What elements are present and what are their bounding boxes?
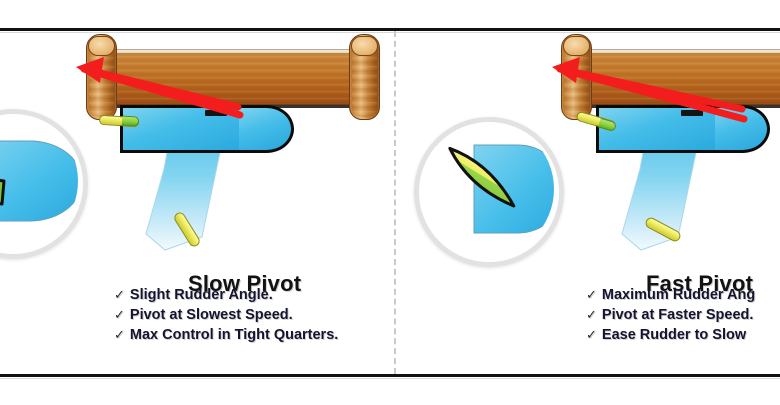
bullet-item: ✓ Max Control in Tight Quarters. [114, 325, 338, 345]
bullet-item: ✓ Slight Rudder Angle. [114, 285, 338, 305]
diagram-canvas: Slow Pivot ✓ Slight Rudder Angle. ✓ Pivo… [0, 0, 780, 405]
inset-content-fast [414, 117, 564, 267]
check-icon: ✓ [114, 285, 125, 305]
bullet-list-slow: ✓ Slight Rudder Angle. ✓ Pivot at Slowes… [114, 285, 338, 345]
check-icon: ✓ [586, 285, 597, 305]
arrow-head [552, 57, 580, 83]
check-icon: ✓ [114, 325, 125, 345]
bullet-text: Max Control in Tight Quarters. [130, 325, 338, 345]
pivot-angle-arrow-fast [546, 49, 776, 129]
frame-bottom-rule [0, 374, 780, 377]
pivot-angle-arrow-slow [70, 49, 270, 129]
inset-content-slow [0, 109, 88, 259]
bullet-text: Slight Rudder Angle. [130, 285, 273, 305]
check-icon: ✓ [586, 325, 597, 345]
frame-bottom-hairline [0, 378, 780, 379]
arrow-line-upper [560, 69, 742, 109]
bullet-list-fast: ✓ Maximum Rudder Ang ✓ Pivot at Faster S… [586, 285, 755, 345]
bullet-text: Maximum Rudder Ang [602, 285, 755, 305]
bullet-item: ✓ Pivot at Slowest Speed. [114, 305, 338, 325]
check-icon: ✓ [114, 305, 125, 325]
check-icon: ✓ [586, 305, 597, 325]
bullet-text: Ease Rudder to Slow [602, 325, 746, 345]
inset-hull-section [0, 141, 82, 221]
bullet-text: Pivot at Slowest Speed. [130, 305, 293, 325]
piling-grain [352, 57, 377, 117]
dock-piling-right [349, 34, 380, 120]
arrow-head [76, 57, 104, 83]
panel-slow-pivot: Slow Pivot ✓ Slight Rudder Angle. ✓ Pivo… [0, 31, 394, 374]
bullet-text: Pivot at Faster Speed. [602, 305, 754, 325]
arrow-line-upper [84, 69, 238, 107]
bullet-item: ✓ Ease Rudder to Slow [586, 325, 755, 345]
bullet-item: ✓ Pivot at Faster Speed. [586, 305, 755, 325]
bullet-item: ✓ Maximum Rudder Ang [586, 285, 755, 305]
panel-fast-pivot: Fast Pivot ✓ Maximum Rudder Ang ✓ Pivot … [396, 31, 780, 374]
